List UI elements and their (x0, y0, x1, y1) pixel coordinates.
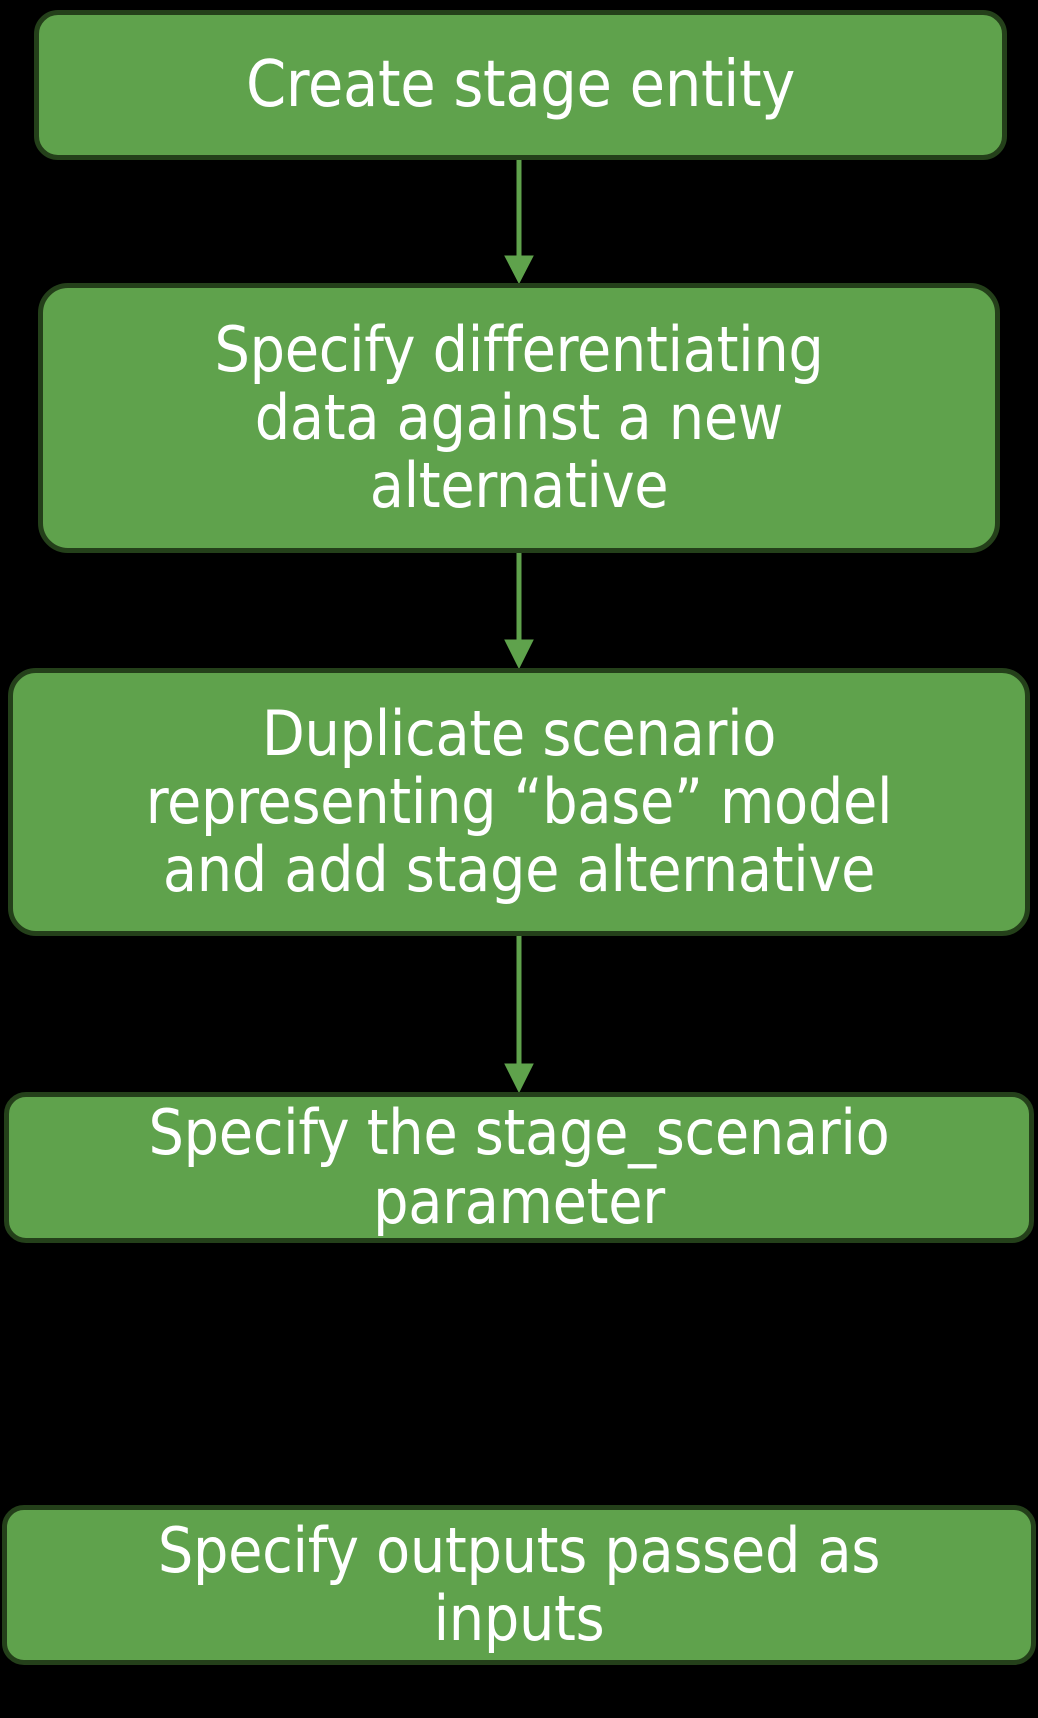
flowchart-node-duplicate-scenario[interactable]: Duplicate scenario representing “base” m… (8, 668, 1030, 936)
arrow-node3-to-node4 (505, 936, 533, 1092)
node-label: Duplicate scenario representing “base” m… (13, 700, 1025, 905)
arrow-node1-to-node2 (505, 160, 533, 283)
flowchart-node-specify-outputs-passed-as-inputs[interactable]: Specify outputs passed as inputs (2, 1505, 1036, 1665)
flowchart-canvas: Create stage entity Specify differentiat… (0, 0, 1038, 1718)
arrow-node2-to-node3 (505, 553, 533, 668)
node-label: Specify outputs passed as inputs (7, 1517, 1031, 1653)
node-label: Specify differentiating data against a n… (43, 316, 995, 521)
flowchart-node-specify-differentiating-data[interactable]: Specify differentiating data against a n… (38, 283, 1000, 553)
flowchart-node-specify-stage-scenario-parameter[interactable]: Specify the stage_scenario parameter (4, 1092, 1034, 1243)
node-label: Specify the stage_scenario parameter (9, 1099, 1029, 1235)
flowchart-node-create-stage-entity[interactable]: Create stage entity (34, 10, 1007, 160)
node-label: Create stage entity (39, 50, 1002, 120)
